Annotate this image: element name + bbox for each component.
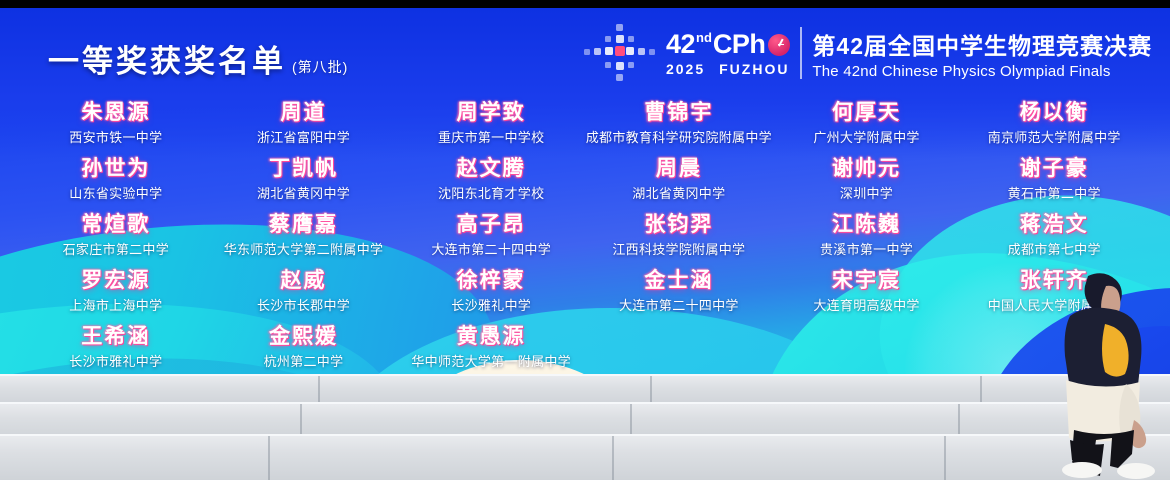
event-title-cn: 第42届全国中学生物理竞赛决赛 bbox=[812, 27, 1152, 61]
winners-grid: 朱恩源西安市铁一中学孙世为山东省实验中学常煊歌石家庄市第二中学罗宏源上海市上海中… bbox=[0, 100, 1170, 380]
screenshot-frame: 一等奖获奖名单 (第八批) bbox=[0, 0, 1170, 480]
winner-name: 周学致 bbox=[457, 100, 526, 126]
winner-name: 周晨 bbox=[656, 156, 702, 182]
winner-school: 大连育明高级中学 bbox=[813, 294, 919, 319]
winner-name: 赵威 bbox=[281, 268, 327, 294]
winner-name: 黄愚源 bbox=[457, 324, 526, 350]
winner-entry: 蔡膺嘉华东师范大学第二附属中学 bbox=[224, 212, 384, 263]
winner-school: 成都市教育科学研究院附属中学 bbox=[586, 126, 772, 151]
winner-entry: 赵文腾沈阳东北育才学校 bbox=[438, 156, 544, 207]
dot-diamond-icon bbox=[582, 22, 656, 84]
event-title-block: 第42届全国中学生物理竞赛决赛 The 42nd Chinese Physics… bbox=[812, 27, 1152, 80]
winner-name: 曹锦宇 bbox=[644, 100, 713, 126]
winner-name: 蒋浩文 bbox=[1020, 212, 1089, 238]
winner-entry: 王希涵长沙市雅礼中学 bbox=[69, 324, 162, 375]
winner-entry: 黄愚源华中师范大学第一附属中学 bbox=[411, 324, 571, 375]
winner-school: 大连市第二十四中学 bbox=[619, 294, 739, 319]
winner-school: 华东师范大学第二附属中学 bbox=[224, 238, 384, 263]
person-walking bbox=[1050, 268, 1158, 480]
winner-school: 上海市上海中学 bbox=[69, 294, 162, 319]
page-title: 一等奖获奖名单 (第八批) bbox=[48, 36, 348, 81]
cpho-word: CPh bbox=[713, 29, 766, 60]
winner-name: 谢子豪 bbox=[1020, 156, 1089, 182]
cpho-wordmark: 42 nd CPh 2025 FUZHOU bbox=[666, 29, 790, 77]
winner-entry: 谢子豪黄石市第二中学 bbox=[1008, 156, 1101, 207]
winner-school: 成都市第七中学 bbox=[1008, 238, 1101, 263]
stage-steps bbox=[0, 370, 1170, 480]
winner-entry: 罗宏源上海市上海中学 bbox=[69, 268, 162, 319]
winner-name: 高子昂 bbox=[457, 212, 526, 238]
logo-city: FUZHOU bbox=[719, 61, 789, 77]
stage-step-bottom bbox=[0, 434, 1170, 480]
winners-column: 何厚天广州大学附属中学谢帅元深圳中学江陈巍贵溪市第一中学宋宇宸大连育明高级中学 bbox=[773, 100, 961, 380]
winner-school: 大连市第二十四中学 bbox=[431, 238, 551, 263]
winner-entry: 宋宇宸大连育明高级中学 bbox=[813, 268, 919, 319]
winner-school: 山东省实验中学 bbox=[69, 182, 162, 207]
logo-divider bbox=[800, 27, 802, 79]
winner-name: 金熙媛 bbox=[269, 324, 338, 350]
winner-entry: 江陈巍贵溪市第一中学 bbox=[820, 212, 913, 263]
winner-school: 湖北省黄冈中学 bbox=[632, 182, 725, 207]
winner-name: 何厚天 bbox=[832, 100, 901, 126]
winner-name: 张钧羿 bbox=[644, 212, 713, 238]
winner-name: 常煊歌 bbox=[81, 212, 150, 238]
winner-name: 王希涵 bbox=[81, 324, 150, 350]
winner-school: 江西科技学院附属中学 bbox=[612, 238, 745, 263]
cpho-number: 42 bbox=[666, 29, 695, 60]
winner-name: 宋宇宸 bbox=[832, 268, 901, 294]
winner-school: 浙江省富阳中学 bbox=[257, 126, 350, 151]
winner-school: 重庆市第一中学校 bbox=[438, 126, 544, 151]
winner-name: 孙世为 bbox=[81, 156, 150, 182]
winner-name: 赵文腾 bbox=[457, 156, 526, 182]
winner-school: 长沙雅礼中学 bbox=[451, 294, 531, 319]
winner-entry: 蒋浩文成都市第七中学 bbox=[1008, 212, 1101, 263]
winner-entry: 周晨湖北省黄冈中学 bbox=[632, 156, 725, 207]
winner-name: 江陈巍 bbox=[832, 212, 901, 238]
winner-entry: 金熙媛杭州第二中学 bbox=[264, 324, 344, 375]
winner-entry: 曹锦宇成都市教育科学研究院附属中学 bbox=[586, 100, 772, 151]
winner-entry: 金士涵大连市第二十四中学 bbox=[619, 268, 739, 319]
event-title-en: The 42nd Chinese Physics Olympiad Finals bbox=[812, 63, 1152, 80]
winner-entry: 谢帅元深圳中学 bbox=[832, 156, 901, 207]
winner-name: 杨以衡 bbox=[1020, 100, 1089, 126]
winner-entry: 徐梓蒙长沙雅礼中学 bbox=[451, 268, 531, 319]
winner-entry: 孙世为山东省实验中学 bbox=[69, 156, 162, 207]
winner-school: 广州大学附属中学 bbox=[813, 126, 919, 151]
winner-name: 蔡膺嘉 bbox=[269, 212, 338, 238]
event-logo-lockup: 42 nd CPh 2025 FUZHOU 第42届全国中学生物理竞赛决赛 Th… bbox=[582, 22, 1152, 84]
page-title-batch: (第八批) bbox=[292, 57, 348, 77]
winner-name: 金士涵 bbox=[644, 268, 713, 294]
page-title-main: 一等奖获奖名单 bbox=[48, 36, 286, 81]
winner-entry: 常煊歌石家庄市第二中学 bbox=[63, 212, 169, 263]
winner-school: 南京师范大学附属中学 bbox=[988, 126, 1121, 151]
winner-school: 石家庄市第二中学 bbox=[63, 238, 169, 263]
winner-school: 沈阳东北育才学校 bbox=[438, 182, 544, 207]
winner-school: 贵溪市第一中学 bbox=[820, 238, 913, 263]
winner-school: 湖北省黄冈中学 bbox=[257, 182, 350, 207]
winner-entry: 杨以衡南京师范大学附属中学 bbox=[988, 100, 1121, 151]
winners-column: 周学致重庆市第一中学校赵文腾沈阳东北育才学校高子昂大连市第二十四中学徐梓蒙长沙雅… bbox=[397, 100, 585, 380]
winners-column: 朱恩源西安市铁一中学孙世为山东省实验中学常煊歌石家庄市第二中学罗宏源上海市上海中… bbox=[22, 100, 210, 380]
winner-entry: 何厚天广州大学附属中学 bbox=[813, 100, 919, 151]
winner-entry: 朱恩源西安市铁一中学 bbox=[69, 100, 162, 151]
winner-name: 谢帅元 bbox=[832, 156, 901, 182]
winner-entry: 周道浙江省富阳中学 bbox=[257, 100, 350, 151]
winners-column: 曹锦宇成都市教育科学研究院附属中学周晨湖北省黄冈中学张钧羿江西科技学院附属中学金… bbox=[585, 100, 773, 380]
winner-name: 丁凯帆 bbox=[269, 156, 338, 182]
winners-column: 周道浙江省富阳中学丁凯帆湖北省黄冈中学蔡膺嘉华东师范大学第二附属中学赵威长沙市长… bbox=[210, 100, 398, 380]
winner-name: 朱恩源 bbox=[81, 100, 150, 126]
winner-school: 黄石市第二中学 bbox=[1008, 182, 1101, 207]
clock-icon bbox=[768, 34, 790, 56]
winner-name: 周道 bbox=[281, 100, 327, 126]
winner-school: 长沙市长郡中学 bbox=[257, 294, 350, 319]
letterbox-top bbox=[0, 0, 1170, 8]
winner-name: 罗宏源 bbox=[81, 268, 150, 294]
winner-entry: 张钧羿江西科技学院附属中学 bbox=[612, 212, 745, 263]
cpho-ordinal: nd bbox=[696, 30, 712, 45]
logo-year: 2025 bbox=[666, 61, 705, 77]
winner-name: 徐梓蒙 bbox=[457, 268, 526, 294]
winner-entry: 周学致重庆市第一中学校 bbox=[438, 100, 544, 151]
winner-entry: 丁凯帆湖北省黄冈中学 bbox=[257, 156, 350, 207]
winner-school: 深圳中学 bbox=[840, 182, 893, 207]
winner-entry: 高子昂大连市第二十四中学 bbox=[431, 212, 551, 263]
winner-school: 西安市铁一中学 bbox=[69, 126, 162, 151]
winner-entry: 赵威长沙市长郡中学 bbox=[257, 268, 350, 319]
